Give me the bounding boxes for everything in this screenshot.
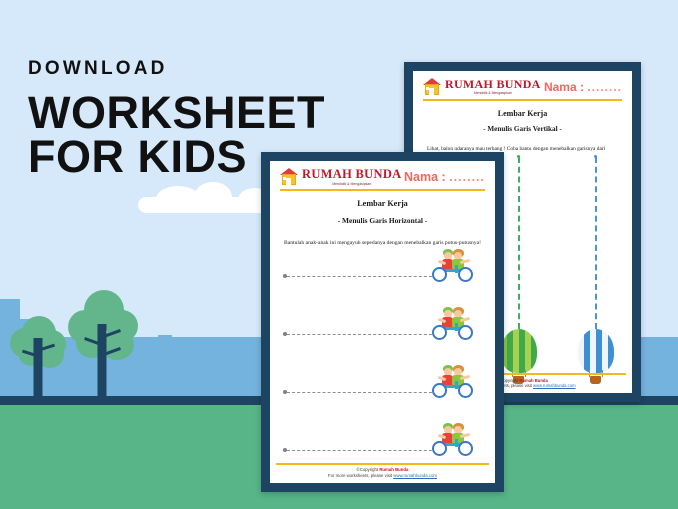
- cloud-lobe: [194, 182, 232, 212]
- kid-arm: [460, 375, 470, 380]
- bicycle-with-kids: [431, 307, 477, 339]
- headline-line-1: WORKSHEET: [28, 91, 325, 135]
- worksheet-horizontal-paper: RUMAH BUNDA Mendidik & Mengasipkan Nama …: [270, 161, 495, 483]
- name-label: Nama :: [404, 170, 446, 184]
- brand-tagline: Mendidik & Mengasipkan: [302, 183, 401, 187]
- footer-brand: Rumah Bunda: [379, 467, 408, 472]
- worksheet-horizontal-footer: ©Copyright Rumah Bunda For more workshee…: [270, 467, 495, 479]
- horizontal-trace-line[interactable]: [287, 392, 437, 393]
- bike-wheel-front: [432, 383, 447, 398]
- house-door: [429, 88, 434, 95]
- horizontal-trace-line[interactable]: [287, 276, 437, 277]
- worksheet-horizontal[interactable]: RUMAH BUNDA Mendidik & Mengasipkan Nama …: [261, 152, 504, 492]
- name-blank[interactable]: ........: [449, 170, 485, 184]
- vertical-trace-line[interactable]: [518, 157, 520, 329]
- kid-arm: [460, 317, 470, 322]
- tree: [62, 284, 142, 396]
- bicycle-with-kids: [431, 365, 477, 397]
- footer-copyright: ©Copyright: [357, 467, 379, 472]
- header-divider: [423, 99, 622, 101]
- poster-canvas: DOWNLOAD WORKSHEET FOR KIDS RUMAH BUNDA …: [0, 0, 678, 509]
- vertical-trace-line[interactable]: [595, 157, 597, 329]
- kid-arm: [460, 259, 470, 264]
- worksheet-horizontal-instruction: Bantulah anak-anak ini mengayuh sepedany…: [284, 239, 481, 248]
- bike-wheel-rear: [458, 441, 473, 456]
- bike-wheel-front: [432, 325, 447, 340]
- bike-wheel-rear: [458, 383, 473, 398]
- name-field[interactable]: Nama : ........: [404, 170, 485, 184]
- horizontal-trace-line[interactable]: [287, 450, 437, 451]
- bike-seatpost: [455, 323, 458, 331]
- headline-kicker: DOWNLOAD: [28, 58, 325, 80]
- kid-arm: [460, 433, 470, 438]
- bike-seatpost: [455, 265, 458, 273]
- house-icon: [423, 78, 441, 96]
- bike-seatpost: [455, 439, 458, 447]
- footer-divider: [276, 463, 489, 465]
- bicycle-with-kids: [431, 249, 477, 281]
- bike-wheel-rear: [458, 325, 473, 340]
- hot-air-balloon-green: [498, 329, 540, 385]
- balloon-envelope: [578, 329, 614, 373]
- name-label: Nama :: [544, 80, 584, 94]
- hot-air-balloon-blue: [575, 329, 617, 385]
- brand-logo: RUMAH BUNDA Mendidik & Mengasipkan: [423, 78, 541, 96]
- name-blank[interactable]: ........: [587, 80, 622, 94]
- name-field[interactable]: Nama : ........: [544, 80, 622, 94]
- header-divider: [280, 189, 485, 191]
- horizontal-trace-line[interactable]: [287, 334, 437, 335]
- bicycle-with-kids: [431, 423, 477, 455]
- balloon-envelope: [501, 329, 537, 373]
- worksheet-horizontal-subtitle: - Menulis Garis Horizontal -: [270, 216, 495, 225]
- poster-headline: DOWNLOAD WORKSHEET FOR KIDS: [28, 58, 325, 178]
- headline-line-2: FOR KIDS: [28, 135, 325, 179]
- house-door: [286, 178, 291, 185]
- footer-visit-row: For more worksheets, please visit www.ru…: [270, 473, 495, 479]
- bike-wheel-rear: [458, 267, 473, 282]
- brand-tagline: Mendidik & Mengasipkan: [445, 92, 541, 95]
- worksheet-vertical-title: Lembar Kerja: [413, 109, 632, 118]
- bike-wheel-front: [432, 441, 447, 456]
- brand-logo-text: RUMAH BUNDA Mendidik & Mengasipkan: [445, 78, 541, 95]
- footer-url-link[interactable]: www.rumahbunda.com: [533, 383, 576, 388]
- footer-url-link[interactable]: www.rumahbunda.com: [393, 473, 437, 478]
- worksheet-horizontal-title: Lembar Kerja: [270, 199, 495, 208]
- tree: [8, 306, 68, 396]
- footer-visit-text: For more worksheets, please visit: [328, 473, 392, 478]
- footer-brand: Rumah Bunda: [519, 378, 547, 383]
- bike-wheel-front: [432, 267, 447, 282]
- worksheet-vertical-header: RUMAH BUNDA Mendidik & Mengasipkan Nama …: [413, 71, 632, 98]
- brand-name: RUMAH BUNDA: [445, 78, 541, 90]
- worksheet-vertical-subtitle: - Menulis Garis Vertikal -: [413, 125, 632, 133]
- bike-seatpost: [455, 381, 458, 389]
